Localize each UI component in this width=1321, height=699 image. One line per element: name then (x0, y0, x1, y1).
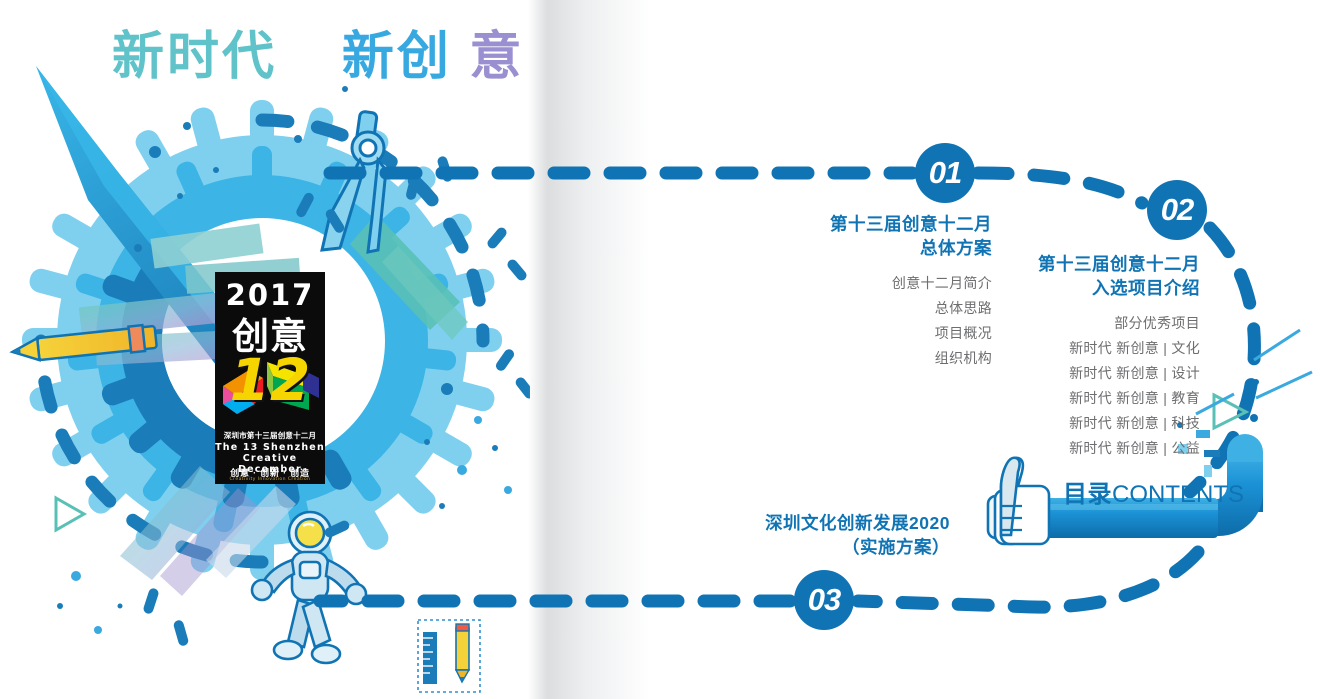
list-item[interactable]: 新时代 新创意 | 设计 (1000, 361, 1200, 386)
list-item[interactable]: 项目概况 (760, 321, 992, 346)
list-item[interactable]: 新时代 新创意 | 公益 (1000, 436, 1200, 461)
section-03-title: 深圳文化创新发展2020 （实施方案） (700, 512, 950, 559)
contents-label: 目录CONTENTS (1063, 474, 1244, 509)
section-block-03[interactable]: 深圳文化创新发展2020 （实施方案） (700, 512, 950, 559)
section-01-items: 创意十二月简介 总体思路 项目概况 组织机构 (760, 271, 992, 371)
list-item[interactable]: 新时代 新创意 | 科技 (1000, 411, 1200, 436)
contents-label-cn: 目录 (1063, 481, 1112, 508)
section-03-title-line2: （实施方案） (700, 536, 950, 560)
poster-subtitle-cn: 深圳市第十三届创意十二月 (215, 430, 325, 441)
section-01-title-line2: 总体方案 (760, 237, 992, 261)
section-02-title-line1: 第十三届创意十二月 (1000, 253, 1200, 277)
title-segment-2: 新创 (342, 28, 452, 86)
list-item[interactable]: 新时代 新创意 | 文化 (1000, 336, 1200, 361)
page-title: 新时代 新创 意 (112, 14, 524, 89)
title-segment-1: 新时代 (112, 28, 277, 86)
dashed-path-bottom (320, 552, 1198, 607)
poster-number: 12 (215, 346, 325, 414)
title-segment-3: 意 (469, 28, 524, 86)
event-poster: 2017 创意 12 深圳市第十三届创意十二月 The 13 Shenzhen … (215, 272, 325, 484)
section-node-01[interactable]: 01 (915, 143, 975, 203)
section-block-02[interactable]: 第十三届创意十二月 入选项目介绍 部分优秀项目 新时代 新创意 | 文化 新时代… (1000, 253, 1200, 461)
slide-canvas: 新时代 新创 意 2017 创意 12 深圳市第十三届创意十二月 The 13 … (0, 0, 1321, 699)
list-item[interactable]: 总体思路 (760, 296, 992, 321)
dashed-path-01-to-02 (978, 173, 1142, 203)
section-node-02[interactable]: 02 (1147, 180, 1207, 240)
section-02-items: 部分优秀项目 新时代 新创意 | 文化 新时代 新创意 | 设计 新时代 新创意… (1000, 311, 1200, 460)
thumbs-up-icon (988, 458, 1049, 544)
section-01-title: 第十三届创意十二月 总体方案 (760, 213, 992, 260)
section-01-title-line1: 第十三届创意十二月 (760, 213, 992, 237)
list-item[interactable]: 组织机构 (760, 346, 992, 371)
section-node-03[interactable]: 03 (794, 570, 854, 630)
list-item[interactable]: 部分优秀项目 (1000, 311, 1200, 336)
list-item[interactable]: 新时代 新创意 | 教育 (1000, 386, 1200, 411)
section-block-01[interactable]: 第十三届创意十二月 总体方案 创意十二月简介 总体思路 项目概况 组织机构 (760, 213, 992, 371)
section-02-title: 第十三届创意十二月 入选项目介绍 (1000, 253, 1200, 300)
poster-subtitle-en-1: The 13 Shenzhen (215, 442, 325, 453)
section-03-title-line1: 深圳文化创新发展2020 (700, 512, 950, 536)
poster-slogan-en: Creativity Innovation Creation (215, 477, 325, 482)
contents-label-en: CONTENTS (1112, 481, 1244, 508)
list-item[interactable]: 创意十二月简介 (760, 271, 992, 296)
section-02-title-line2: 入选项目介绍 (1000, 277, 1200, 301)
